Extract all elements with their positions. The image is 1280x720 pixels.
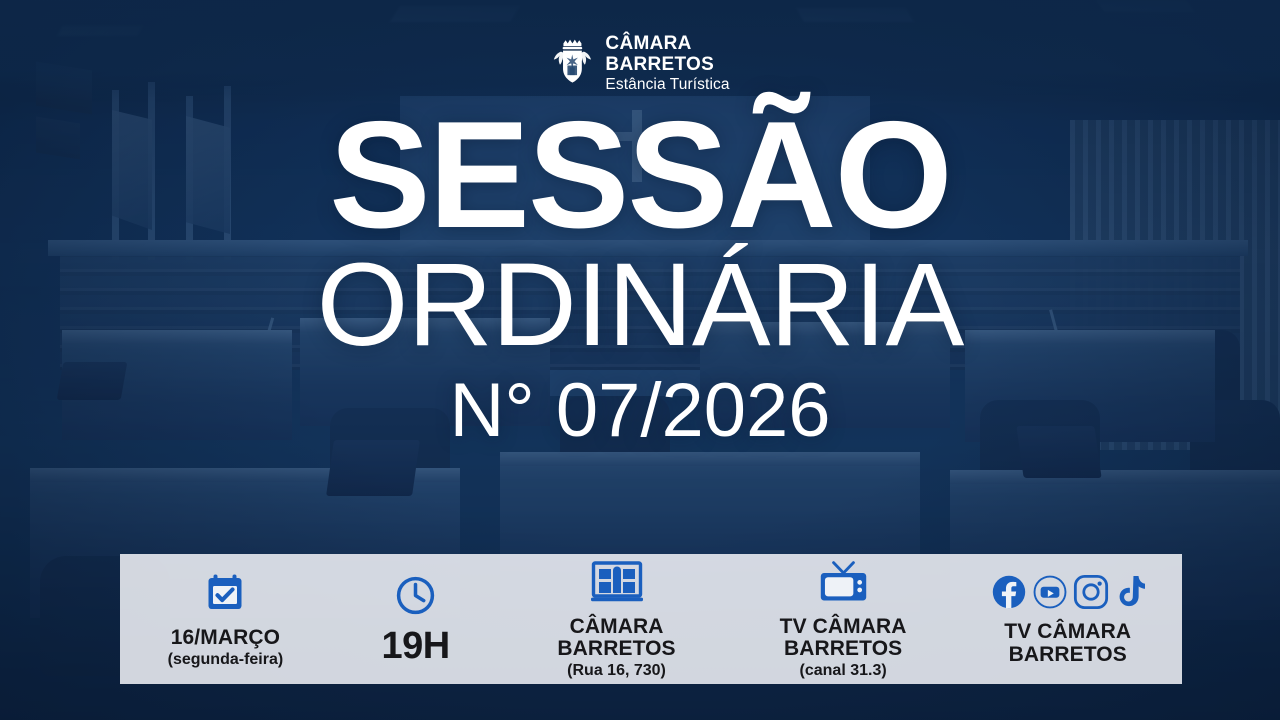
info-cell-social: TV CÂMARA BARRETOS	[953, 554, 1182, 684]
info-cell-place: CÂMARA BARRETOS (Rua 16, 730)	[500, 554, 732, 684]
poster-canvas: CÂMARA BARRETOS Estância Turística SESSÃ…	[0, 0, 1280, 720]
brand-line-1: CÂMARA	[605, 34, 729, 53]
title-line-ordinaria: ORDINÁRIA	[0, 245, 1280, 365]
clock-icon	[394, 574, 437, 622]
social-label-line-2: BARRETOS	[1009, 644, 1127, 666]
tv-channel: (canal 31.3)	[800, 662, 887, 680]
time-label: 19H	[381, 626, 449, 667]
title-line-number: N° 07/2026	[0, 371, 1280, 451]
info-bar: 16/MARÇO (segunda-feira) 19H	[120, 554, 1182, 684]
date-weekday: (segunda-feira)	[168, 651, 284, 669]
building-icon	[590, 560, 644, 609]
brand-lockup: CÂMARA BARRETOS Estância Turística	[550, 34, 729, 93]
info-cell-date: 16/MARÇO (segunda-feira)	[120, 554, 331, 684]
calendar-check-icon	[203, 571, 247, 620]
television-icon	[817, 560, 870, 609]
barretos-coat-of-arms-icon	[550, 37, 594, 89]
facebook-icon[interactable]	[991, 574, 1027, 610]
date-label: 16/MARÇO	[171, 627, 280, 649]
tv-label-line-1: TV CÂMARA	[780, 616, 907, 638]
tiktok-icon[interactable]	[1114, 574, 1145, 610]
info-cell-time: 19H	[331, 554, 500, 684]
poster-title: SESSÃO ORDINÁRIA N° 07/2026	[0, 104, 1280, 451]
instagram-icon[interactable]	[1073, 574, 1109, 610]
youtube-icon[interactable]	[1032, 574, 1068, 610]
title-line-sessao: SESSÃO	[0, 104, 1280, 247]
social-icon-row	[991, 574, 1145, 610]
place-label-line-1: CÂMARA	[570, 616, 664, 638]
social-label-line-1: TV CÂMARA	[1004, 621, 1131, 643]
brand-line-2: BARRETOS	[605, 55, 729, 74]
tv-label-line-2: BARRETOS	[784, 638, 902, 660]
place-label-line-2: BARRETOS	[557, 638, 675, 660]
info-cell-tv: TV CÂMARA BARRETOS (canal 31.3)	[733, 554, 954, 684]
place-address: (Rua 16, 730)	[567, 662, 666, 680]
